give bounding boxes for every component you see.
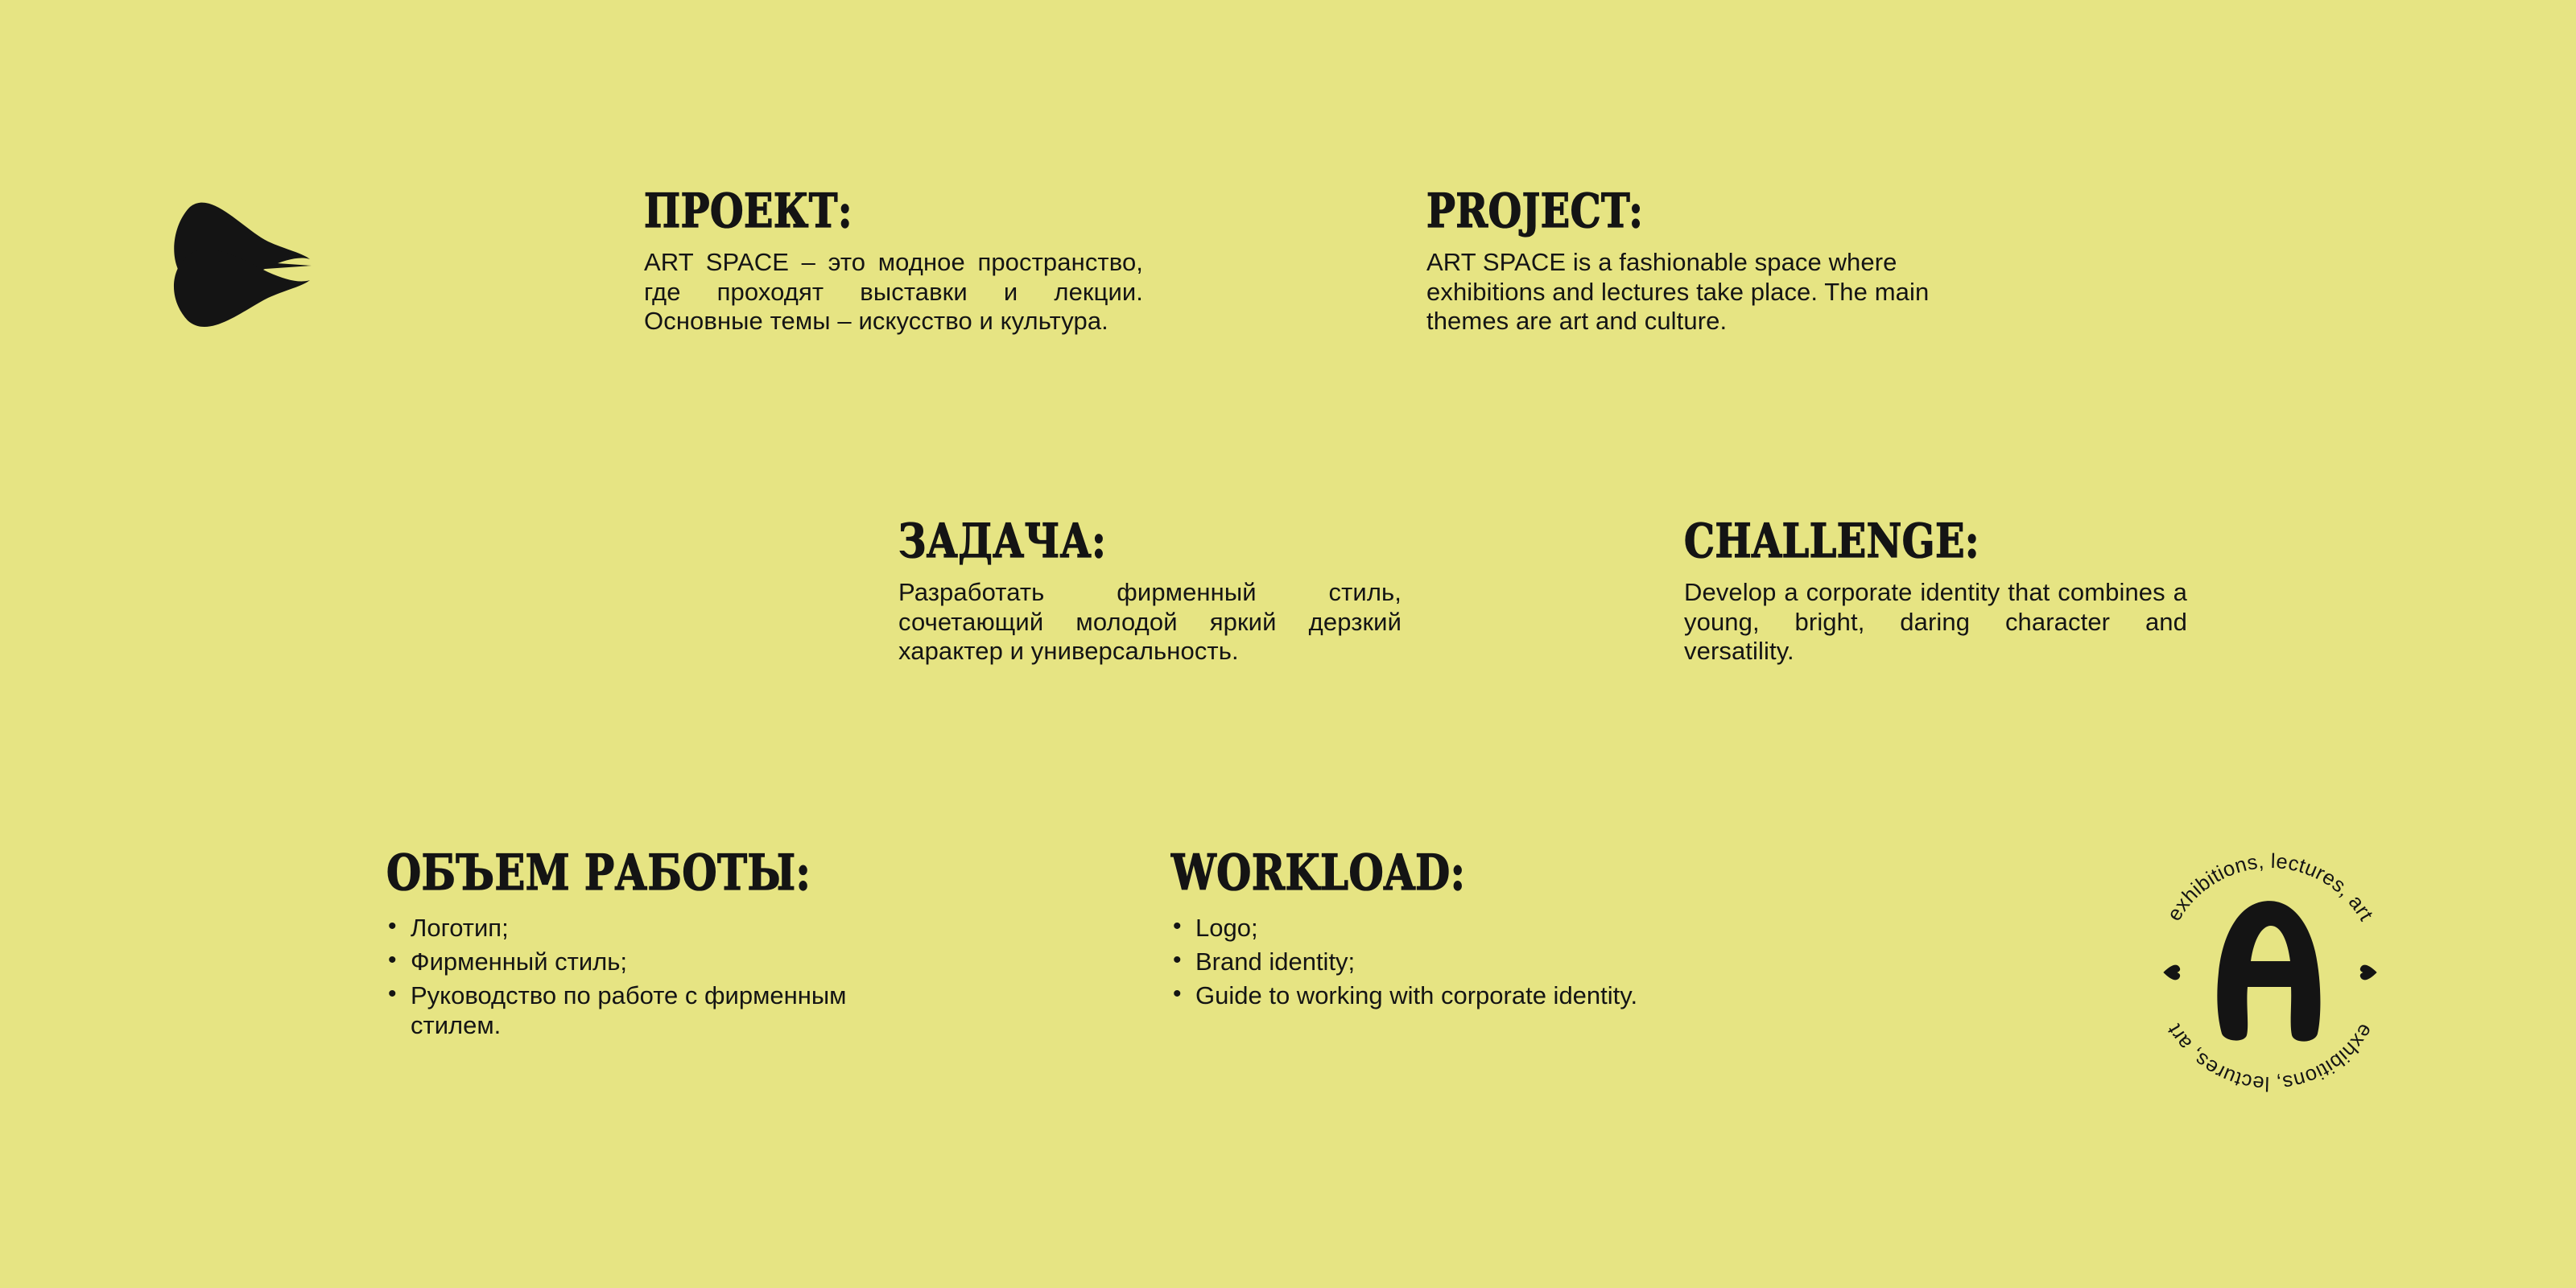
workload-ru-list: Логотип; Фирменный стиль; Руководство по…	[386, 913, 885, 1041]
block-title-task-en: CHALLENGE:	[1684, 518, 2198, 565]
block-task-ru: ЗАДАЧА: Разработать фирменный стиль, соч…	[898, 523, 1402, 667]
list-item-label: Руководство по работе с фирменным стилем…	[411, 980, 885, 1042]
block-workload-en: WORKLOAD: Logo; Brand identity; Guide to…	[1171, 853, 1670, 1013]
block-title-workload-en: WORKLOAD:	[1171, 848, 1680, 897]
badge-letter-a	[2217, 901, 2320, 1042]
list-item: Фирменный стиль;	[386, 947, 885, 977]
list-item-label: Brand identity;	[1195, 947, 1670, 977]
list-item: Логотип;	[386, 913, 885, 943]
list-item: Руководство по работе с фирменным стилем…	[386, 980, 885, 1042]
list-item: Guide to working with corporate identity…	[1171, 980, 1670, 1011]
block-body-task-en: Develop a corporate identity that combin…	[1684, 578, 2187, 667]
block-workload-ru: ОБЪЕМ РАБОТЫ: Логотип; Фирменный стиль; …	[386, 853, 885, 1044]
block-body-project-ru: ART SPACE – это модное пространство, где…	[644, 248, 1143, 336]
block-title-task-ru: ЗАДАЧА:	[898, 518, 1412, 565]
list-item: Logo;	[1171, 913, 1670, 943]
badge-ring-text-bottom: exhibitions, lectures, art	[2163, 1020, 2377, 1095]
block-project-ru: ПРОЕКТ: ART SPACE – это модное пространс…	[644, 193, 1143, 336]
block-body-project-en: ART SPACE is a fashionable space where e…	[1426, 248, 1942, 336]
list-item-label: Фирменный стиль;	[411, 947, 885, 977]
block-body-task-ru: Разработать фирменный стиль, сочетающий …	[898, 578, 1402, 667]
block-task-en: CHALLENGE: Develop a corporate identity …	[1684, 523, 2187, 667]
slide-canvas: ПРОЕКТ: ART SPACE – это модное пространс…	[0, 0, 2576, 1288]
block-title-workload-ru: ОБЪЕМ РАБОТЫ:	[386, 848, 895, 897]
arrow-mark	[165, 185, 326, 346]
block-project-en: PROJECT: ART SPACE is a fashionable spac…	[1426, 193, 1942, 336]
heart-icon-right	[2360, 965, 2377, 980]
badge-ring-text-bottom-path: exhibitions, lectures, art	[2163, 1020, 2377, 1095]
block-title-project-en: PROJECT:	[1426, 188, 1952, 235]
block-title-project-ru: ПРОЕКТ:	[644, 188, 1153, 235]
list-item-label: Guide to working with corporate identity…	[1195, 980, 1670, 1011]
list-item-label: Логотип;	[411, 913, 885, 943]
workload-en-list: Logo; Brand identity; Guide to working w…	[1171, 913, 1670, 1010]
art-space-stamp: exhibitions, lectures, art exhibitions, …	[2141, 844, 2399, 1101]
list-item: Brand identity;	[1171, 947, 1670, 977]
heart-icon-left	[2163, 965, 2180, 980]
list-item-label: Logo;	[1195, 913, 1670, 943]
